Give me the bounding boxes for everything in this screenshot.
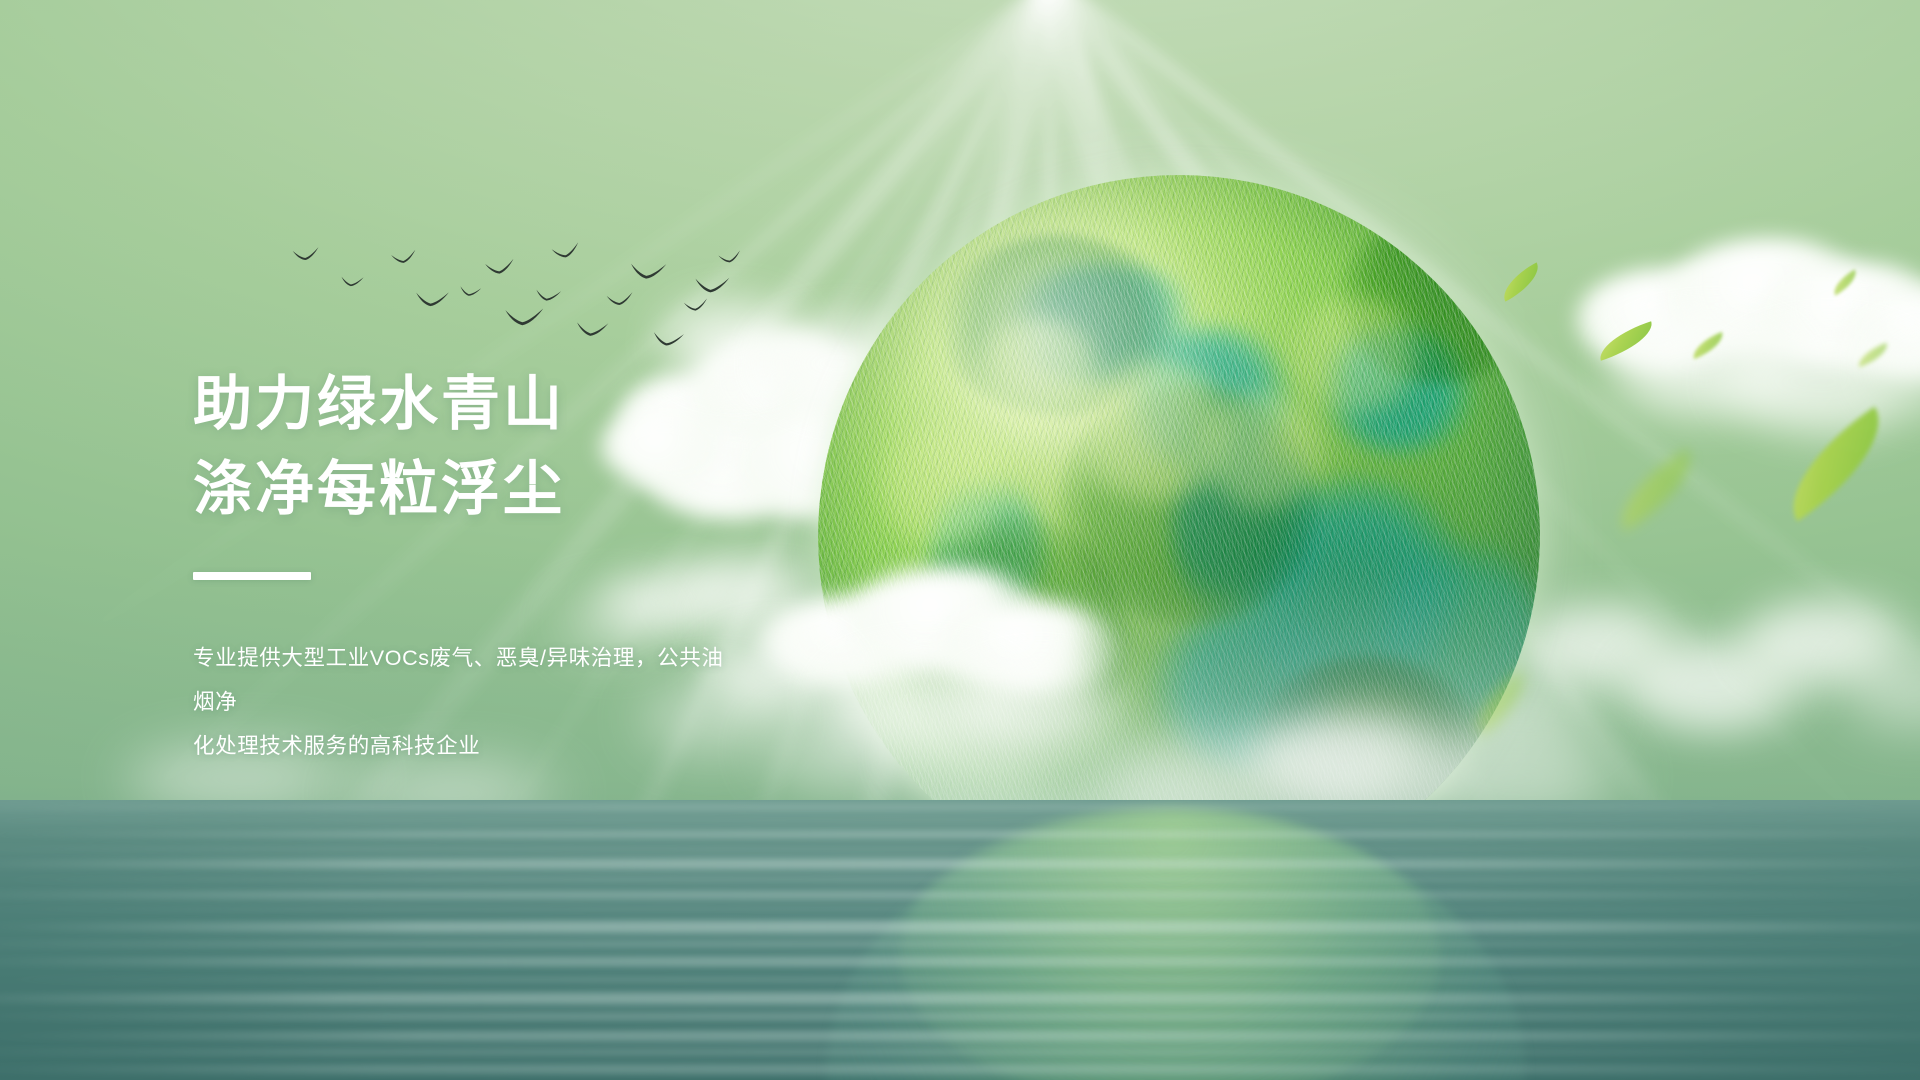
water-ripple bbox=[0, 876, 1920, 883]
water-ripple bbox=[0, 846, 1920, 852]
water-ripple bbox=[0, 920, 1920, 934]
headline-line-2: 涤净每粒浮尘 bbox=[193, 447, 953, 532]
water-ripple bbox=[0, 890, 1920, 900]
water-ripple bbox=[0, 992, 1920, 1005]
water-ripple bbox=[0, 976, 1920, 983]
water-ripple bbox=[0, 906, 1920, 912]
water-ripple bbox=[0, 956, 1920, 967]
hero-banner: 助力绿水青山 涤净每粒浮尘 专业提供大型工业VOCs废气、恶臭/异味治理，公共油… bbox=[0, 0, 1920, 1080]
water-ripple bbox=[0, 1048, 1920, 1056]
water-ripple bbox=[0, 1064, 1920, 1074]
water-ripple bbox=[0, 858, 1920, 870]
banner-copy: 助力绿水青山 涤净每粒浮尘 专业提供大型工业VOCs废气、恶臭/异味治理，公共油… bbox=[193, 362, 953, 768]
water-ripple bbox=[0, 1012, 1920, 1021]
water-surface bbox=[0, 800, 1920, 1080]
headline-divider bbox=[193, 572, 311, 580]
water-ripple bbox=[0, 830, 1920, 839]
water-ripple bbox=[0, 804, 1920, 811]
water-ripple bbox=[0, 818, 1920, 823]
water-ripple bbox=[0, 1030, 1920, 1042]
subtitle-line-1: 专业提供大型工业VOCs废气、恶臭/异味治理，公共油烟净 bbox=[193, 636, 733, 724]
water-ripple bbox=[0, 940, 1920, 948]
headline-line-1: 助力绿水青山 bbox=[193, 362, 953, 447]
subtitle-line-2: 化处理技术服务的高科技企业 bbox=[193, 724, 733, 768]
banner-subtitle: 专业提供大型工业VOCs废气、恶臭/异味治理，公共油烟净 化处理技术服务的高科技… bbox=[193, 636, 733, 768]
